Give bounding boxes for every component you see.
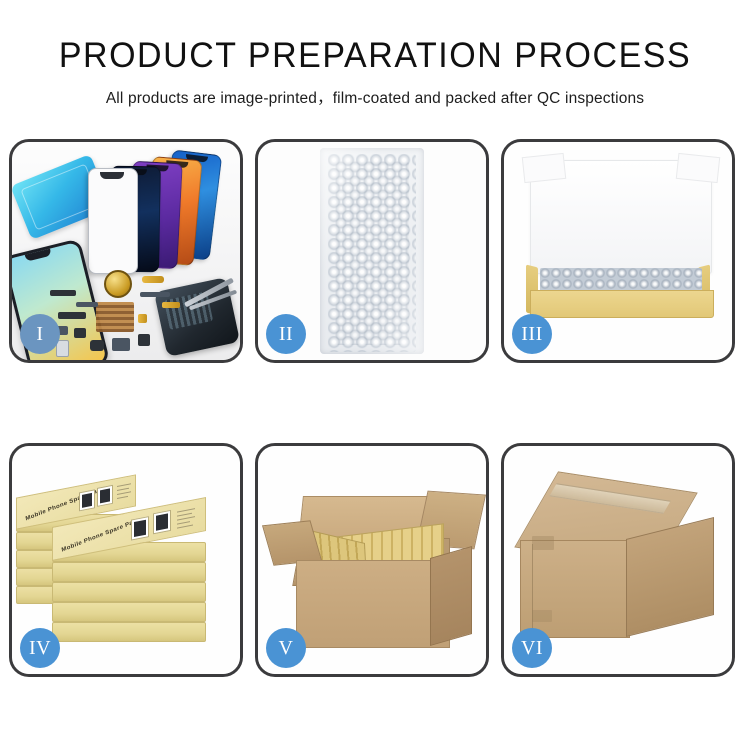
step-panel-3: III — [501, 139, 735, 363]
page-title: PRODUCT PREPARATION PROCESS — [11, 0, 739, 76]
step-panel-5: V — [255, 443, 489, 677]
step-badge-6: VI — [512, 628, 552, 668]
step-panel-2: II — [255, 139, 489, 363]
header: PRODUCT PREPARATION PROCESS All products… — [0, 0, 750, 108]
step-badge-3: III — [512, 314, 552, 354]
sealed-carton-icon — [518, 476, 722, 648]
step-panel-1: I — [9, 139, 243, 363]
page-subtitle: All products are image-printed，film-coat… — [0, 76, 750, 108]
step-panel-6: VI — [501, 443, 735, 677]
steps-grid: I II III — [9, 139, 741, 677]
phone-screen-fan — [84, 152, 240, 272]
box-lid-icon — [530, 160, 712, 274]
box-stack-icon: Mobile Phone Spare Parts — [16, 458, 240, 654]
camera-lens-icon — [104, 270, 132, 298]
step-panel-4: Mobile Phone Spare Parts — [9, 443, 243, 677]
open-carton-icon — [270, 474, 478, 652]
step-badge-1: I — [20, 314, 60, 354]
product-preparation-infographic: PRODUCT PREPARATION PROCESS All products… — [0, 0, 750, 750]
step-badge-2: II — [266, 314, 306, 354]
bubble-wrap-icon — [320, 148, 424, 354]
step-badge-4: IV — [20, 628, 60, 668]
step-badge-5: V — [266, 628, 306, 668]
chip-grid-icon — [96, 302, 134, 332]
bubble-wrapped-contents — [540, 268, 702, 292]
inner-box-icon — [530, 290, 714, 318]
